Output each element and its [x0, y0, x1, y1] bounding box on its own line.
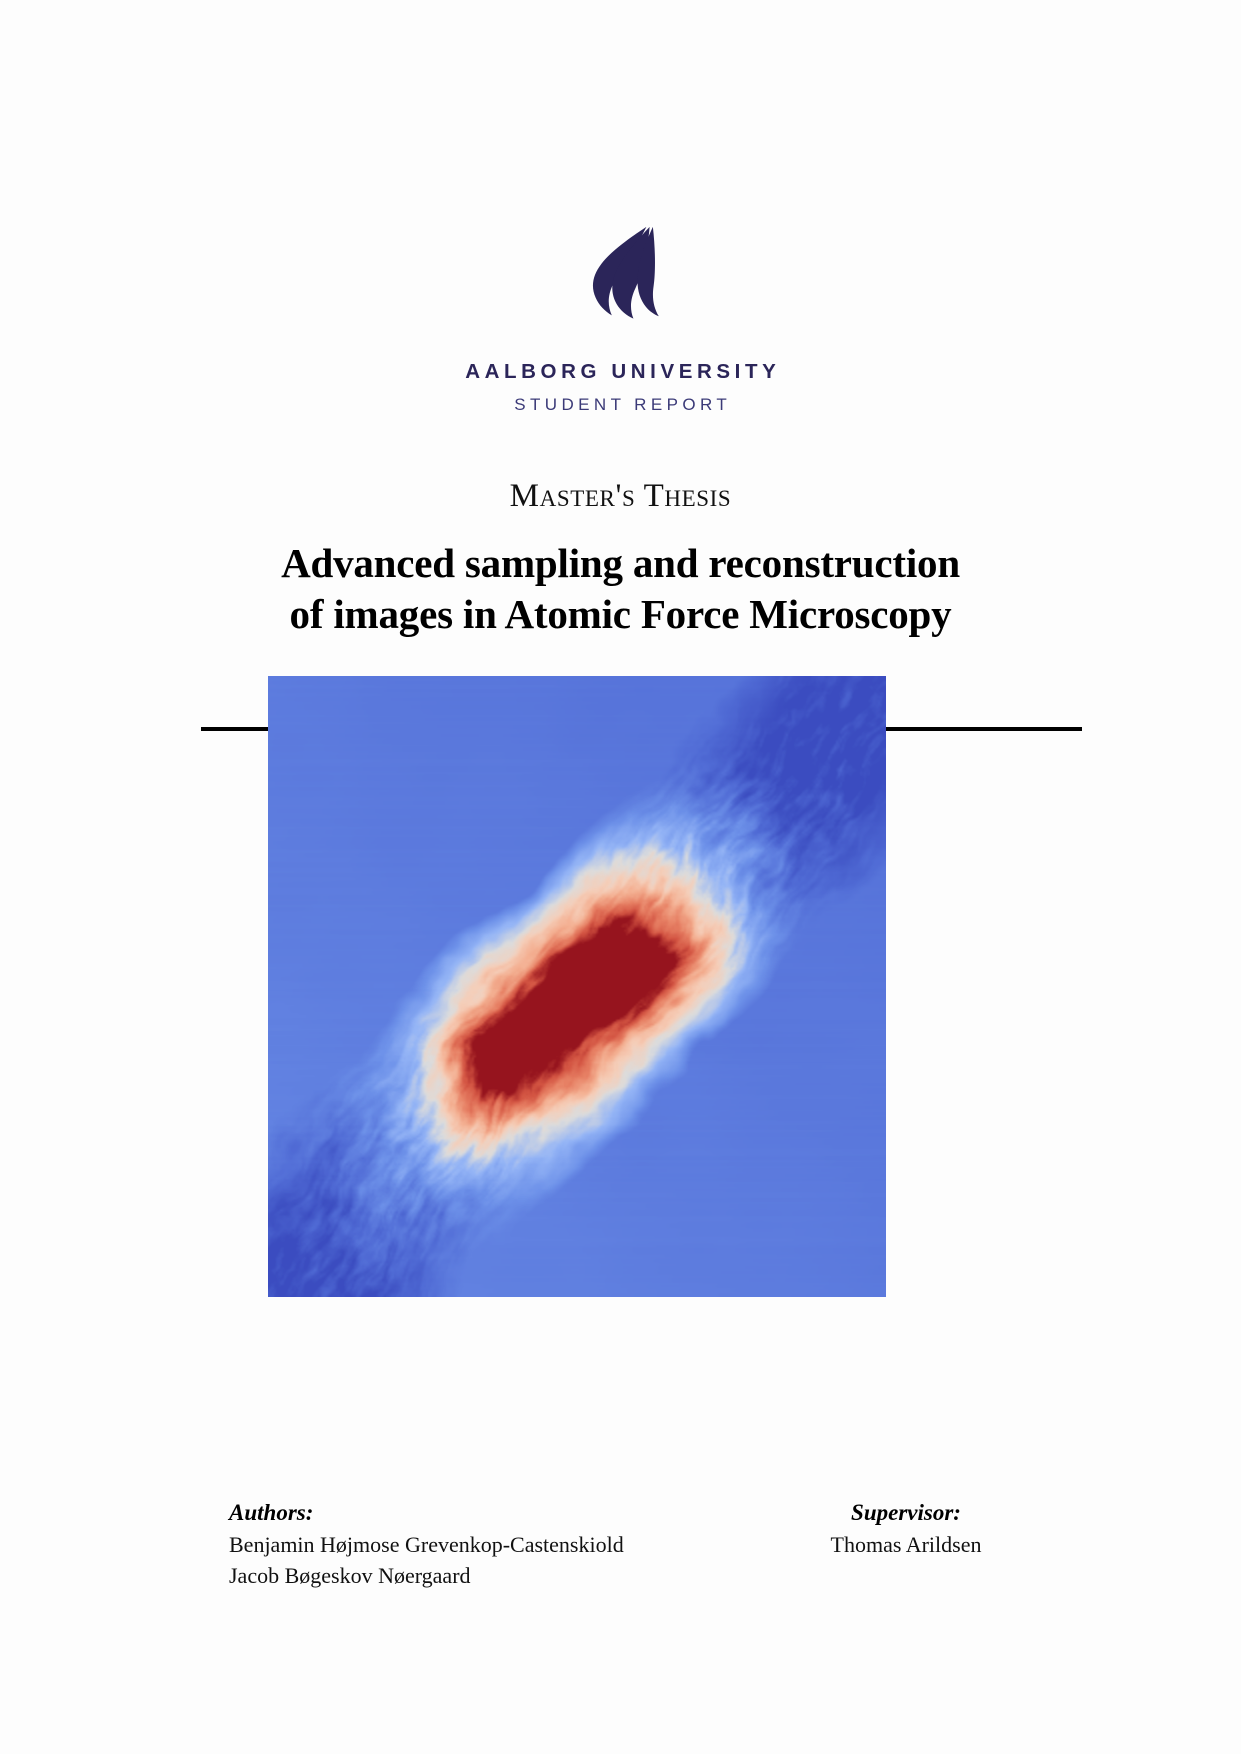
afm-height-map-canvas: [268, 676, 886, 1297]
cover-page: AALBORG UNIVERSITY STUDENT REPORT Master…: [0, 0, 1241, 1754]
author-name: Benjamin Højmose Grevenkop-Castenskiold: [229, 1529, 624, 1560]
page-title-line-1: Advanced sampling and reconstruction: [180, 538, 1061, 589]
credits-block: Authors: Benjamin Højmose Grevenkop-Cast…: [201, 1497, 1082, 1617]
page-title-line-2: of images in Atomic Force Microscopy: [180, 589, 1061, 640]
report-type-label: STUDENT REPORT: [510, 395, 731, 415]
author-name: Jacob Bøgeskov Nøergaard: [229, 1560, 624, 1591]
page-title: Advanced sampling and reconstruction of …: [180, 538, 1061, 640]
authors-heading: Authors:: [229, 1497, 624, 1529]
afm-cover-image: [268, 676, 886, 1297]
supervisor-column: Supervisor: Thomas Arildsen: [761, 1497, 1051, 1560]
authors-column: Authors: Benjamin Højmose Grevenkop-Cast…: [229, 1497, 624, 1591]
university-name: AALBORG UNIVERSITY: [461, 360, 781, 384]
document-kind-label: Master's Thesis: [0, 478, 1241, 515]
university-branding: AALBORG UNIVERSITY STUDENT REPORT: [0, 222, 1241, 415]
supervisor-heading: Supervisor:: [761, 1497, 1051, 1529]
aau-swoosh-logo-icon: [567, 222, 675, 330]
supervisor-name: Thomas Arildsen: [761, 1529, 1051, 1560]
